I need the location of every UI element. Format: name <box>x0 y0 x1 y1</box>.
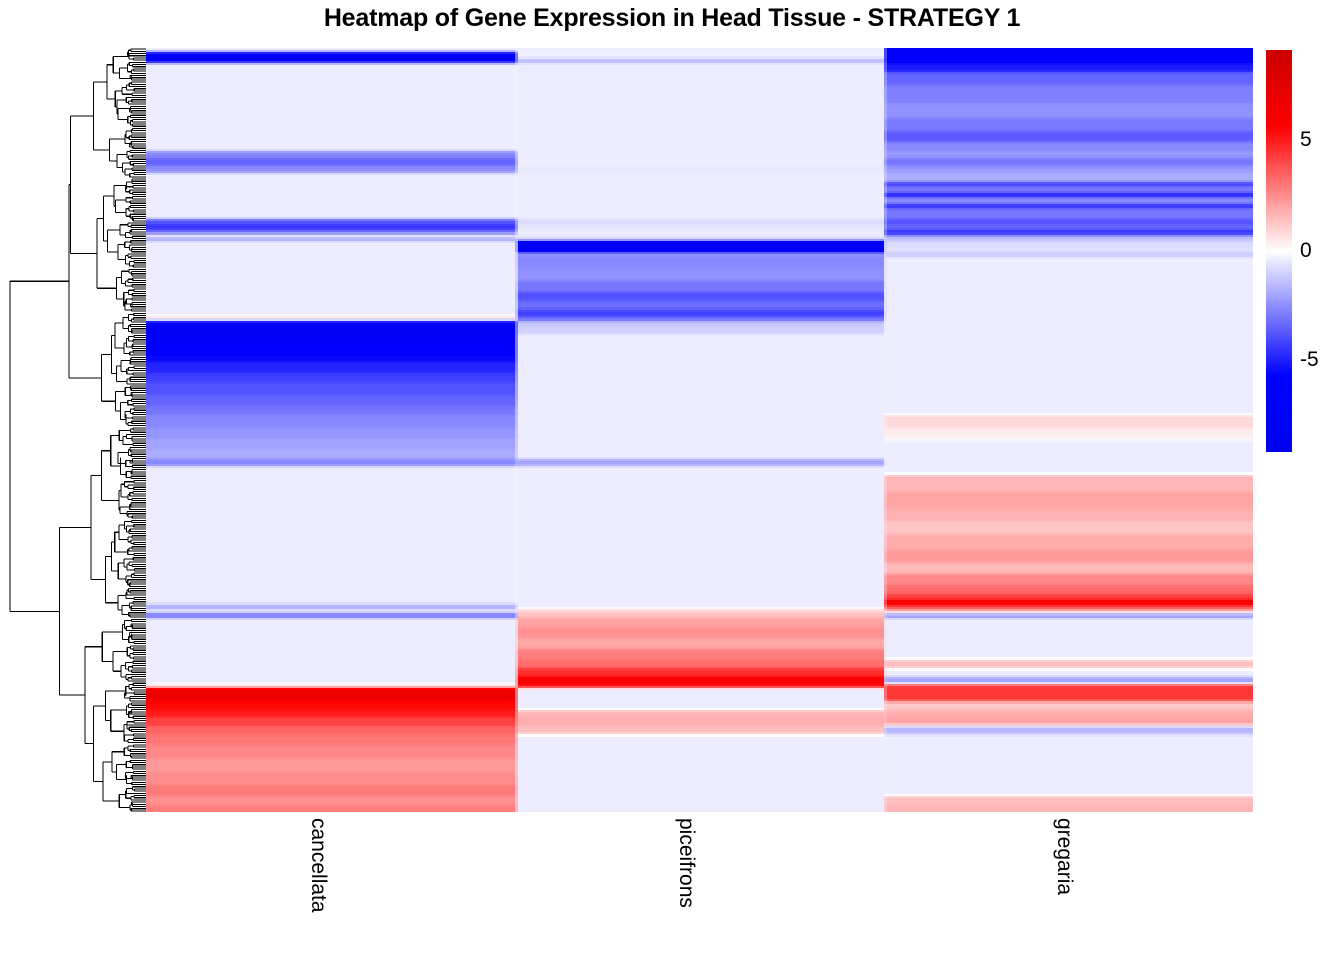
figure-root: Heatmap of Gene Expression in Head Tissu… <box>0 0 1344 960</box>
column-label-cancellata: cancellata <box>306 818 330 913</box>
colorbar-tick-5: 5 <box>1300 128 1312 152</box>
page-title: Heatmap of Gene Expression in Head Tissu… <box>0 4 1344 33</box>
dendrogram-svg <box>8 48 146 812</box>
colorbar-gradient <box>1266 50 1292 452</box>
heatmap-grid <box>146 48 1253 812</box>
row-dendrogram <box>8 48 146 812</box>
colorbar-tick-minus-5: -5 <box>1300 348 1319 372</box>
colorbar <box>1266 50 1292 452</box>
column-label-gregaria: gregaria <box>1052 818 1076 895</box>
colorbar-tick-0: 0 <box>1300 239 1312 263</box>
heatmap-panel <box>146 48 1253 812</box>
column-label-piceifrons: piceifrons <box>674 818 698 908</box>
